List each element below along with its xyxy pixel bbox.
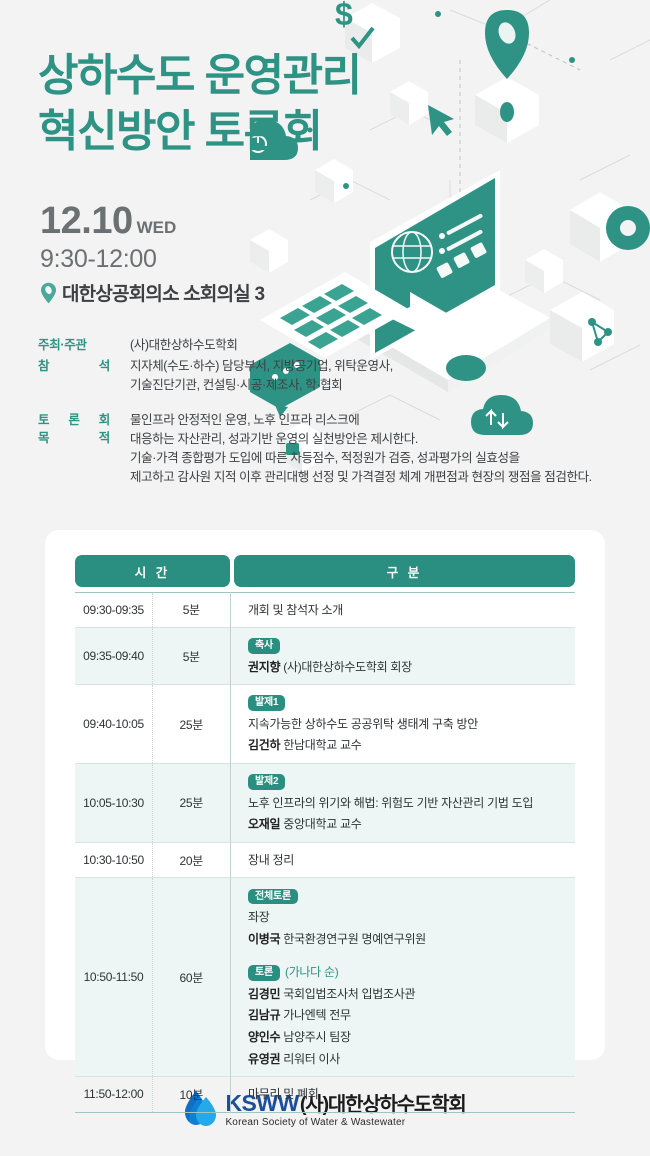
row-duration: 25분 (153, 764, 231, 843)
row-duration: 20분 (153, 842, 231, 878)
row-duration: 5분 (153, 628, 231, 685)
line-text: 개회 및 참석자 소개 (248, 603, 343, 617)
row-duration: 10분 (153, 1077, 231, 1113)
person-name: 김경민 (248, 987, 280, 1001)
purpose-value: 물인프라 안정적인 운영, 노후 인프라 리스크에 대응하는 자산관리, 성과기… (130, 411, 592, 487)
line-text: 장내 정리 (248, 853, 294, 867)
row-badge: 발제2 (248, 774, 285, 790)
line-text: 국회입법조사처 입법조사관 (280, 987, 415, 1001)
attendee-row: 참석 지자체(수도·하수) 담당부서, 지방공기업, 위탁운영사, 기술진단기관… (38, 357, 613, 395)
row-description: 전체토론좌장이병국 한국환경연구원 명예연구위원토론(가나다 순)김경민 국회입… (234, 878, 575, 1077)
row-description: 축사권지향 (사)대한상하수도학회 회장 (234, 628, 575, 685)
event-venue-row: 대한상공회의소 소회의실 3 (40, 279, 264, 306)
svg-text:$: $ (335, 0, 353, 32)
person-name: 권지향 (248, 660, 280, 674)
row-time: 10:50-11:50 (75, 878, 153, 1077)
panelist: 양인수 남양주시 팀장 (248, 1028, 575, 1047)
row-line: 장내 정리 (248, 853, 294, 867)
row-description: 장내 정리 (234, 842, 575, 878)
line-text: 리워터 이사 (280, 1052, 340, 1066)
row-description: 마무리 및 폐회 (234, 1077, 575, 1113)
person-name: 김건하 (248, 738, 280, 752)
purpose-label: 토론회 목적 (38, 411, 110, 487)
line-text: 마무리 및 폐회 (248, 1087, 319, 1101)
row-line: 개회 및 참석자 소개 (248, 603, 343, 617)
schedule-table-body: 09:30-09:355분개회 및 참석자 소개09:35-09:405분축사권… (75, 592, 575, 1112)
row-time: 09:35-09:40 (75, 628, 153, 685)
line-text: 가나엔텍 전무 (280, 1008, 351, 1022)
panel-badge-discuss-note: (가나다 순) (285, 965, 338, 979)
table-row: 10:30-10:5020분장내 정리 (75, 842, 575, 878)
panelist: 김남규 가나엔텍 전무 (248, 1006, 575, 1025)
line-text: 한국환경연구원 명예연구위원 (280, 932, 426, 946)
purpose-row: 토론회 목적 물인프라 안정적인 운영, 노후 인프라 리스크에 대응하는 자산… (38, 411, 613, 487)
table-row: 09:35-09:405분축사권지향 (사)대한상하수도학회 회장 (75, 628, 575, 685)
schedule-table-head: 시 간 구 분 (75, 555, 575, 592)
table-row: 09:40-10:0525분발제1지속가능한 상하수도 공공위탁 생태계 구축 … (75, 685, 575, 764)
row-time: 10:05-10:30 (75, 764, 153, 843)
event-day-of-week: WED (137, 218, 177, 238)
row-time: 09:30-09:35 (75, 592, 153, 628)
line-text: 지속가능한 상하수도 공공위탁 생태계 구축 방안 (248, 717, 478, 731)
event-info-block: 주최·주관 (사)대한상하수도학회 참석 지자체(수도·하수) 담당부서, 지방… (38, 336, 613, 489)
attendee-value: 지자체(수도·하수) 담당부서, 지방공기업, 위탁운영사, 기술진단기관, 컨… (130, 357, 393, 395)
table-row: 10:05-10:3025분발제2노후 인프라의 위기와 해법: 위험도 기반 … (75, 764, 575, 843)
poster-root: $ (0, 0, 650, 1156)
line-text: 중앙대학교 교수 (280, 817, 361, 831)
row-line: 노후 인프라의 위기와 해법: 위험도 기반 자산관리 기법 도입 (248, 794, 575, 813)
table-row: 09:30-09:355분개회 및 참석자 소개 (75, 592, 575, 628)
row-duration: 25분 (153, 685, 231, 764)
panel-chair: 이병국 한국환경연구원 명예연구위원 (248, 930, 575, 949)
poster-title: 상하수도 운영관리 혁신방안 토론회 (38, 48, 361, 161)
person-name: 김남규 (248, 1008, 280, 1022)
event-datetime-block: 12.10 WED 9:30-12:00 대한상공회의소 소회의실 3 (40, 200, 264, 306)
person-name: 오재일 (248, 817, 280, 831)
schedule-table: 시 간 구 분 09:30-09:355분개회 및 참석자 소개09:35-09… (75, 555, 575, 1113)
event-date: 12.10 (40, 200, 133, 243)
panel-gap (248, 951, 575, 960)
row-time: 09:40-10:05 (75, 685, 153, 764)
row-description: 개회 및 참석자 소개 (234, 592, 575, 628)
logo-english-name: Korean Society of Water & Wastewater (225, 1117, 465, 1128)
row-time: 10:30-10:50 (75, 842, 153, 878)
event-time: 9:30-12:00 (40, 245, 264, 274)
host-label: 주최·주관 (38, 336, 110, 355)
row-line: 김건하 한남대학교 교수 (248, 736, 575, 755)
header-time: 시 간 (75, 555, 230, 587)
row-duration: 60분 (153, 878, 231, 1077)
panel-discuss-head: 토론(가나다 순) (248, 963, 575, 982)
panel-badge-discuss: 토론 (248, 965, 280, 981)
row-line: 지속가능한 상하수도 공공위탁 생태계 구축 방안 (248, 715, 575, 734)
schedule-card: 시 간 구 분 09:30-09:355분개회 및 참석자 소개09:35-09… (45, 530, 605, 1060)
title-line-2: 혁신방안 토론회 (38, 104, 361, 160)
host-row: 주최·주관 (사)대한상하수도학회 (38, 336, 613, 355)
row-badge: 축사 (248, 638, 280, 654)
line-text: 노후 인프라의 위기와 해법: 위험도 기반 자산관리 기법 도입 (248, 796, 533, 810)
event-date-row: 12.10 WED (40, 200, 264, 243)
header-desc: 구 분 (234, 555, 575, 587)
table-row: 11:50-12:0010분마무리 및 폐회 (75, 1077, 575, 1113)
row-line: 오재일 중앙대학교 교수 (248, 815, 575, 834)
row-time: 11:50-12:00 (75, 1077, 153, 1113)
row-duration: 5분 (153, 592, 231, 628)
event-venue: 대한상공회의소 소회의실 3 (62, 279, 264, 306)
table-row-panel: 10:50-11:5060분전체토론좌장이병국 한국환경연구원 명예연구위원토론… (75, 878, 575, 1077)
attendee-label: 참석 (38, 357, 110, 395)
panel-badge-all: 전체토론 (248, 889, 298, 905)
person-name: 유영권 (248, 1052, 280, 1066)
row-line: 마무리 및 폐회 (248, 1087, 319, 1101)
location-pin-icon (40, 282, 57, 304)
row-description: 발제2노후 인프라의 위기와 해법: 위험도 기반 자산관리 기법 도입오재일 … (234, 764, 575, 843)
panelist: 유영권 리워터 이사 (248, 1050, 575, 1069)
line-text: (사)대한상하수도학회 회장 (280, 660, 412, 674)
panel-chair-label: 좌장 (248, 908, 575, 927)
person-name: 이병국 (248, 932, 280, 946)
title-line-1: 상하수도 운영관리 (38, 48, 361, 104)
row-line: 권지향 (사)대한상하수도학회 회장 (248, 658, 575, 677)
row-description: 발제1지속가능한 상하수도 공공위탁 생태계 구축 방안김건하 한남대학교 교수 (234, 685, 575, 764)
line-text: 남양주시 팀장 (280, 1030, 351, 1044)
person-name: 양인수 (248, 1030, 280, 1044)
row-badge: 발제1 (248, 695, 285, 711)
line-text: 한남대학교 교수 (280, 738, 361, 752)
host-value: (사)대한상하수도학회 (130, 336, 237, 355)
panelist: 김경민 국회입법조사처 입법조사관 (248, 985, 575, 1004)
